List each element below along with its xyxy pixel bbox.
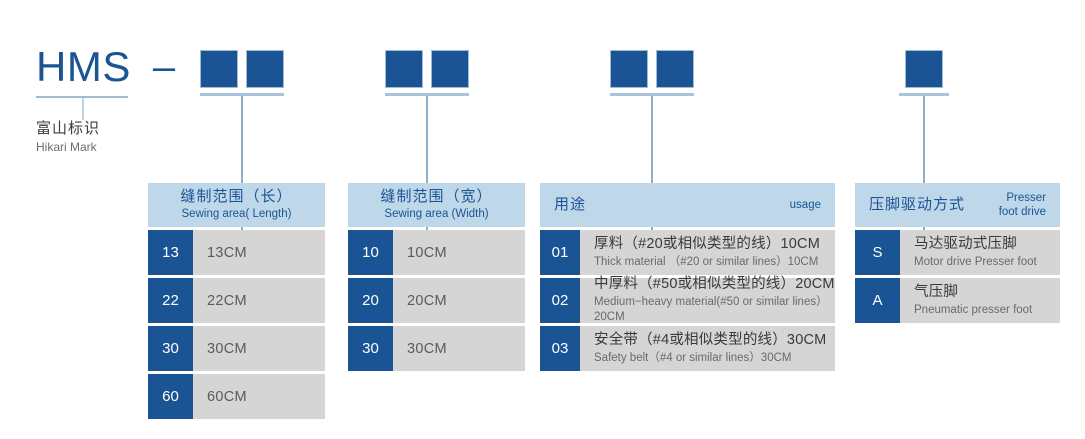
table-row[interactable]: 30 30CM [348, 326, 525, 371]
row-body: 中厚料（#50或相似类型的线）20CM Medium−heavy materia… [580, 278, 835, 323]
row-body: 20CM [393, 278, 525, 323]
model-prefix-hms: HMS [36, 46, 131, 88]
row-value-en: Motor drive Presser foot [914, 255, 1060, 271]
row-body: 厚料（#20或相似类型的线）10CM Thick material （#20 o… [580, 230, 835, 275]
row-value: 13CM [207, 245, 325, 261]
table-header: 用途 usage [540, 183, 835, 227]
table-header-cn: 压脚驱动方式 [869, 196, 965, 215]
row-code: 03 [540, 326, 580, 371]
table-usage: 用途 usage 01 厚料（#20或相似类型的线）10CM Thick mat… [540, 183, 835, 374]
row-body: 30CM [193, 326, 325, 371]
table-header: 缝制范围（长） Sewing area( Length) [148, 183, 325, 227]
table-row[interactable]: 22 22CM [148, 278, 325, 323]
row-body: 气压脚 Pneumatic presser foot [900, 278, 1060, 323]
table-header-en: usage [790, 198, 821, 212]
table-sewing-area-width: 缝制范围（宽） Sewing area (Width) 10 10CM 20 2… [348, 183, 525, 374]
table-row[interactable]: A 气压脚 Pneumatic presser foot [855, 278, 1060, 323]
table-rows: S 马达驱动式压脚 Motor drive Presser foot A 气压脚… [855, 230, 1060, 323]
logo-connector-line [82, 98, 84, 120]
table-row[interactable]: S 马达驱动式压脚 Motor drive Presser foot [855, 230, 1060, 275]
code-squares-usage [610, 50, 694, 96]
row-value: 60CM [207, 389, 325, 405]
row-code: 30 [148, 326, 193, 371]
row-value-en: Medium−heavy material(#50 or similar lin… [594, 295, 835, 326]
table-sewing-area-length: 缝制范围（长） Sewing area( Length) 13 13CM 22 … [148, 183, 325, 422]
row-code: S [855, 230, 900, 275]
code-square[interactable] [246, 50, 284, 88]
row-value-cn: 中厚料（#50或相似类型的线）20CM [594, 275, 835, 294]
hikari-mark-block: HMS – 富山标识 Hikari Mark [36, 42, 186, 154]
row-code: 22 [148, 278, 193, 323]
table-header-cn: 缝制范围（宽） [380, 188, 492, 207]
table-rows: 10 10CM 20 20CM 30 30CM [348, 230, 525, 371]
row-value: 10CM [407, 245, 525, 261]
table-row[interactable]: 02 中厚料（#50或相似类型的线）20CM Medium−heavy mate… [540, 278, 835, 323]
table-row[interactable]: 20 20CM [348, 278, 525, 323]
row-value: 30CM [207, 341, 325, 357]
row-code: 01 [540, 230, 580, 275]
table-header-en: Sewing area (Width) [384, 207, 488, 221]
code-square[interactable] [610, 50, 648, 88]
row-value: 22CM [207, 293, 325, 309]
row-value-en: Thick material （#20 or similar lines）10C… [594, 255, 835, 271]
table-presser-foot-drive: 压脚驱动方式 Presser foot drive S 马达驱动式压脚 Moto… [855, 183, 1060, 326]
row-value-cn: 安全带（#4或相似类型的线）30CM [594, 331, 835, 350]
code-squares-presser-foot [905, 50, 949, 96]
code-square[interactable] [200, 50, 238, 88]
table-header-en: Presser foot drive [999, 191, 1046, 220]
code-squares-sewing-width [385, 50, 469, 96]
row-code: 02 [540, 278, 580, 323]
row-code: 10 [348, 230, 393, 275]
row-body: 马达驱动式压脚 Motor drive Presser foot [900, 230, 1060, 275]
row-code: 60 [148, 374, 193, 419]
row-body: 60CM [193, 374, 325, 419]
table-row[interactable]: 10 10CM [348, 230, 525, 275]
table-row[interactable]: 60 60CM [148, 374, 325, 419]
row-body: 10CM [393, 230, 525, 275]
row-value-cn: 厚料（#20或相似类型的线）10CM [594, 235, 835, 254]
table-row[interactable]: 30 30CM [148, 326, 325, 371]
table-header-cn: 用途 [554, 196, 586, 215]
logo-row: HMS – [36, 42, 186, 92]
table-header-cn: 缝制范围（长） [180, 188, 292, 207]
row-code: 20 [348, 278, 393, 323]
table-row[interactable]: 03 安全带（#4或相似类型的线）30CM Safety belt（#4 or … [540, 326, 835, 371]
row-body: 安全带（#4或相似类型的线）30CM Safety belt（#4 or sim… [580, 326, 835, 371]
row-value-en: Safety belt（#4 or similar lines）30CM [594, 351, 835, 367]
code-square-row [200, 50, 284, 88]
row-value: 20CM [407, 293, 525, 309]
code-square-row [905, 50, 949, 88]
table-row[interactable]: 01 厚料（#20或相似类型的线）10CM Thick material （#2… [540, 230, 835, 275]
row-body: 30CM [393, 326, 525, 371]
code-square[interactable] [905, 50, 943, 88]
table-header-en: Sewing area( Length) [182, 207, 292, 221]
logo-label-cn: 富山标识 [36, 120, 186, 138]
logo-label-en: Hikari Mark [36, 140, 186, 154]
row-value-cn: 马达驱动式压脚 [914, 235, 1060, 254]
table-rows: 01 厚料（#20或相似类型的线）10CM Thick material （#2… [540, 230, 835, 371]
row-value: 30CM [407, 341, 525, 357]
table-header: 压脚驱动方式 Presser foot drive [855, 183, 1060, 227]
code-squares-sewing-length [200, 50, 284, 96]
row-value-en: Pneumatic presser foot [914, 303, 1060, 319]
table-rows: 13 13CM 22 22CM 30 30CM 60 60CM [148, 230, 325, 419]
table-row[interactable]: 13 13CM [148, 230, 325, 275]
model-dash: – [153, 47, 175, 87]
code-square[interactable] [431, 50, 469, 88]
row-body: 22CM [193, 278, 325, 323]
row-body: 13CM [193, 230, 325, 275]
row-code: 30 [348, 326, 393, 371]
row-value-cn: 气压脚 [914, 283, 1060, 302]
code-square-row [385, 50, 469, 88]
table-header: 缝制范围（宽） Sewing area (Width) [348, 183, 525, 227]
code-square[interactable] [656, 50, 694, 88]
code-square[interactable] [385, 50, 423, 88]
code-square-row [610, 50, 694, 88]
row-code: A [855, 278, 900, 323]
row-code: 13 [148, 230, 193, 275]
